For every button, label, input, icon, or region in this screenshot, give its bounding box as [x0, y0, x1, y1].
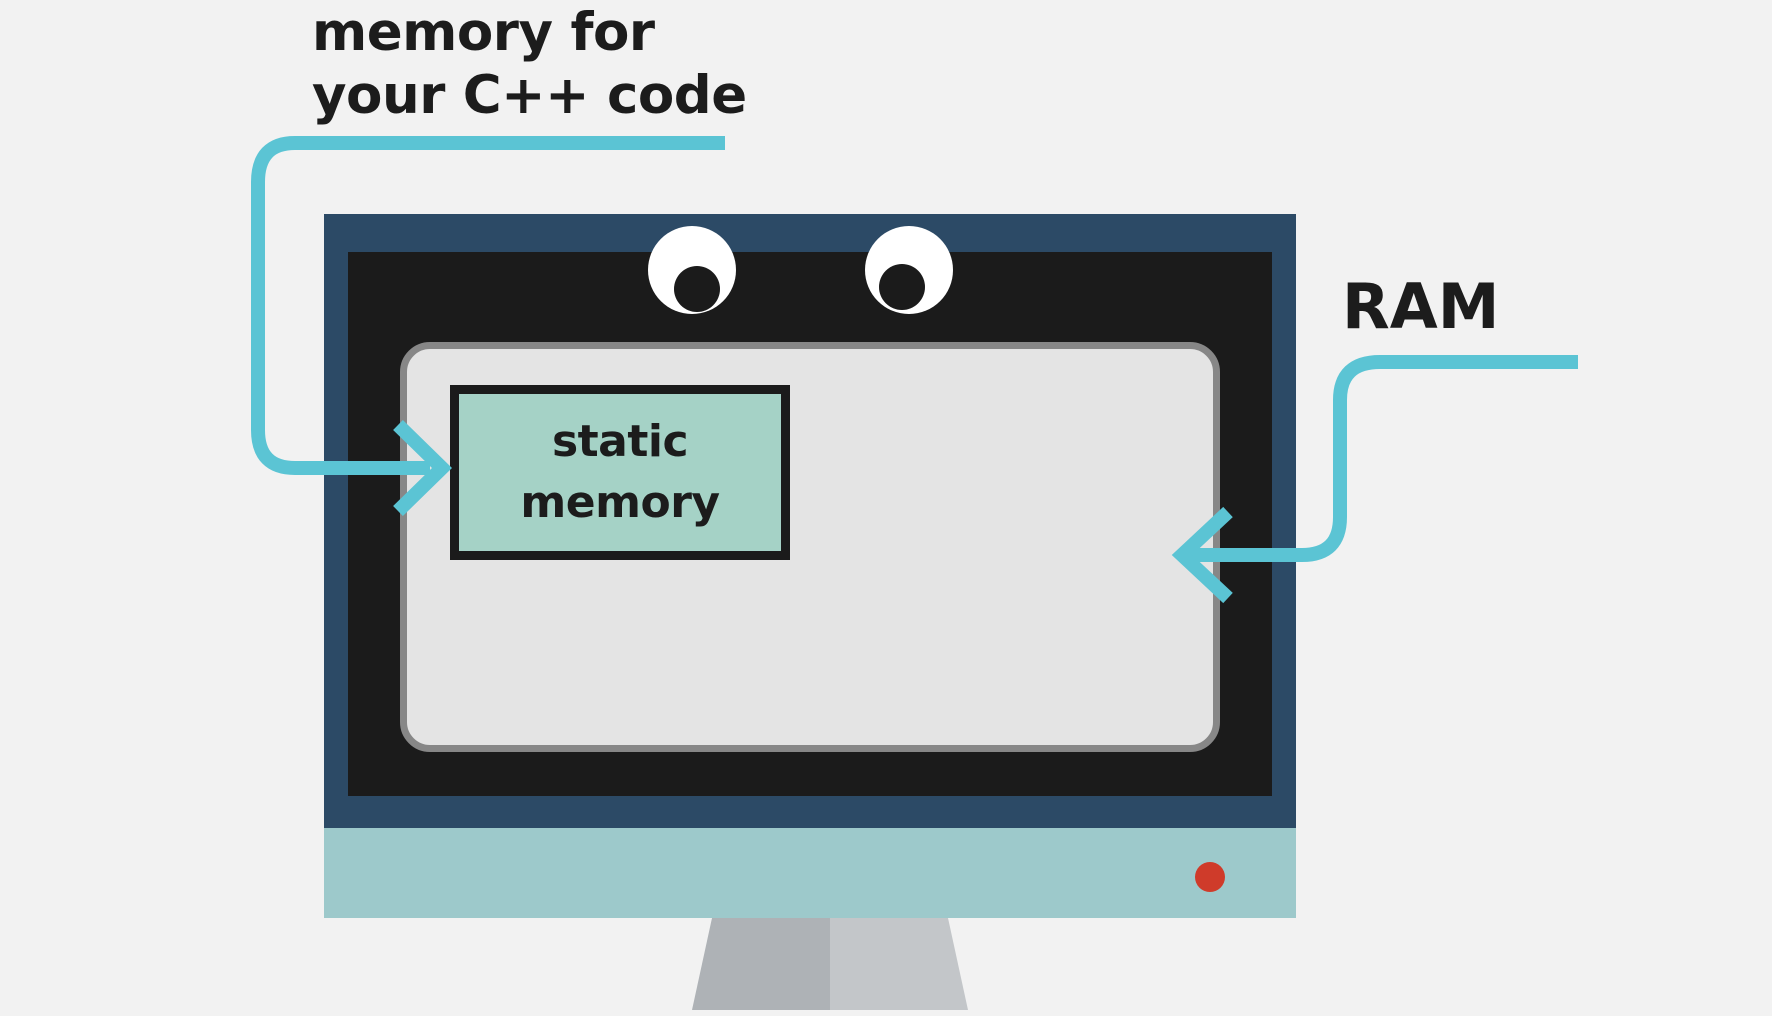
pupil-left-icon: [674, 266, 720, 312]
diagram-canvas: static memory memory for your C++ code R…: [0, 0, 1772, 1016]
eye-left-icon: [648, 226, 736, 314]
static-memory-label-line1: static: [552, 412, 688, 473]
eye-right-icon: [865, 226, 953, 314]
static-memory-block: static memory: [450, 385, 790, 560]
monitor-stand: [690, 918, 970, 1016]
ram-annotation-label: RAM: [1342, 270, 1499, 343]
code-annotation-label: memory for your C++ code: [312, 2, 747, 127]
static-memory-label-line2: memory: [520, 473, 719, 534]
pupil-right-icon: [879, 264, 925, 310]
power-indicator-dot: [1195, 862, 1225, 892]
monitor-base: [324, 828, 1296, 918]
